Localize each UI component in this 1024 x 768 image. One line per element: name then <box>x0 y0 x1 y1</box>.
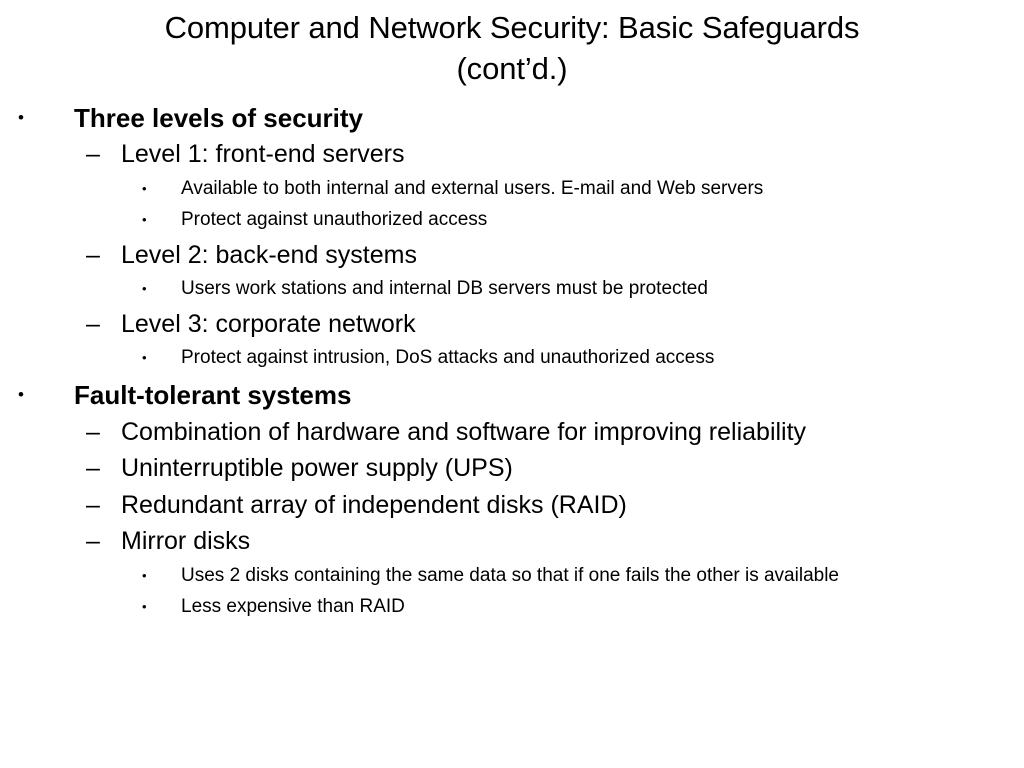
bullet-marker-icon: • <box>18 205 168 235</box>
outline-item-text: Available to both internal and external … <box>181 174 938 203</box>
page-title-line-1: Computer and Network Security: Basic Saf… <box>52 8 972 49</box>
outline-item-text: Three levels of security <box>74 100 1006 136</box>
bullet-marker-icon: • <box>18 343 168 373</box>
bullet-marker-icon: • <box>18 100 58 137</box>
page-title-line-2: (cont’d.) <box>52 49 972 90</box>
bullet-marker-icon: • <box>18 592 168 622</box>
bullet-marker-icon: – <box>18 137 108 173</box>
outline-item-text: Users work stations and internal DB serv… <box>181 274 938 303</box>
outline-item-text: Less expensive than RAID <box>181 592 938 621</box>
page-title: Computer and Network Security: Basic Saf… <box>52 0 972 90</box>
outline-item-text: Level 2: back-end systems <box>121 238 1006 274</box>
outline-item-level-3: •Protect against intrusion, DoS attacks … <box>18 343 1006 372</box>
outline-item-text: Redundant array of independent disks (RA… <box>121 488 1006 524</box>
outline-item-text: Level 3: corporate network <box>121 307 1006 343</box>
outline-item-level-1: •Three levels of security <box>18 100 1006 136</box>
outline-item-level-2: –Mirror disks <box>18 524 1006 560</box>
slide: Computer and Network Security: Basic Saf… <box>0 0 1024 768</box>
outline-item-level-2: –Redundant array of independent disks (R… <box>18 488 1006 524</box>
outline-item-level-2: –Level 1: front-end servers <box>18 137 1006 173</box>
outline-item-text: Protect against intrusion, DoS attacks a… <box>181 343 938 372</box>
bullet-marker-icon: – <box>18 238 108 274</box>
outline-item-text: Uses 2 disks containing the same data so… <box>181 561 938 590</box>
outline-item-level-1: •Fault-tolerant systems <box>18 377 1006 413</box>
outline-item-level-3: •Available to both internal and external… <box>18 174 1006 203</box>
outline-item-text: Mirror disks <box>121 524 1006 560</box>
bullet-marker-icon: – <box>18 524 108 560</box>
outline-item-level-2: –Combination of hardware and software fo… <box>18 415 1006 451</box>
outline-item-level-3: •Uses 2 disks containing the same data s… <box>18 561 1006 590</box>
bullet-marker-icon: – <box>18 451 108 487</box>
bullet-marker-icon: – <box>18 488 108 524</box>
outline-item-level-2: –Uninterruptible power supply (UPS) <box>18 451 1006 487</box>
outline-item-text: Fault-tolerant systems <box>74 377 1006 413</box>
bullet-marker-icon: • <box>18 377 58 414</box>
outline-item-text: Protect against unauthorized access <box>181 205 938 234</box>
bullet-marker-icon: – <box>18 415 108 451</box>
outline-item-level-3: •Less expensive than RAID <box>18 592 1006 621</box>
bullet-marker-icon: – <box>18 307 108 343</box>
outline-list: •Three levels of security–Level 1: front… <box>18 100 1006 622</box>
outline-item-level-3: •Users work stations and internal DB ser… <box>18 274 1006 303</box>
slide-body: •Three levels of security–Level 1: front… <box>0 90 1024 622</box>
outline-item-text: Combination of hardware and software for… <box>121 415 1006 451</box>
outline-item-level-3: •Protect against unauthorized access <box>18 205 1006 234</box>
bullet-marker-icon: • <box>18 561 168 591</box>
bullet-marker-icon: • <box>18 174 168 204</box>
outline-item-level-2: –Level 2: back-end systems <box>18 238 1006 274</box>
outline-item-level-2: –Level 3: corporate network <box>18 307 1006 343</box>
outline-item-text: Level 1: front-end servers <box>121 137 1006 173</box>
outline-item-text: Uninterruptible power supply (UPS) <box>121 451 1006 487</box>
bullet-marker-icon: • <box>18 274 168 304</box>
